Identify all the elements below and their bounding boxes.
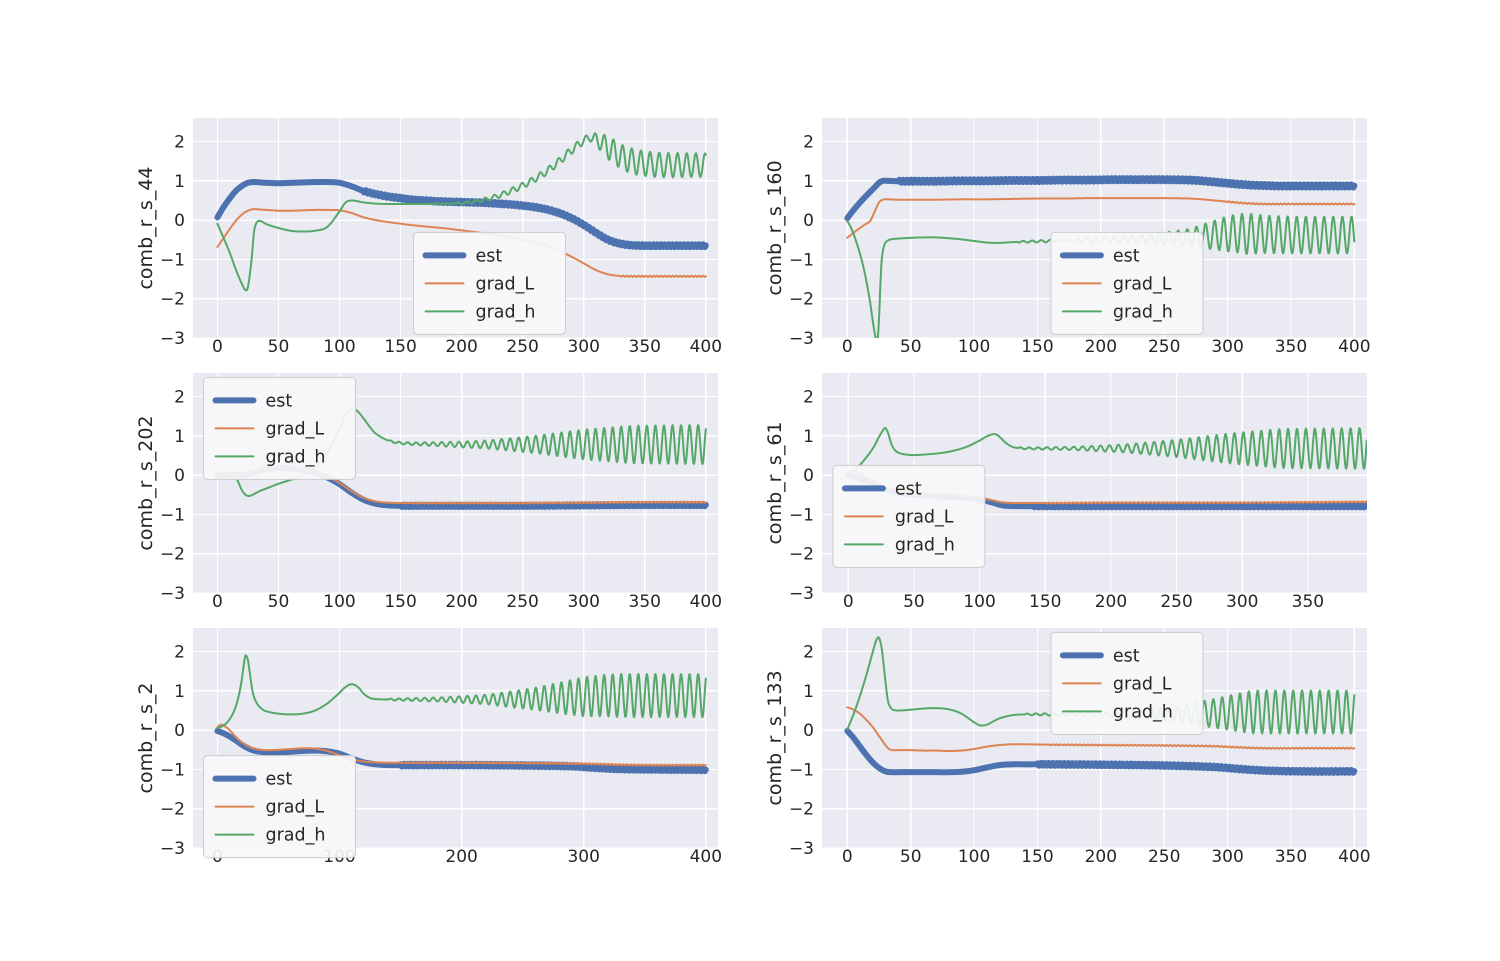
legend-label-grad_L: grad_L xyxy=(1113,674,1172,694)
x-tick-label: 100 xyxy=(958,847,990,867)
x-tick-label: 200 xyxy=(1085,847,1117,867)
legend-label-grad_h: grad_h xyxy=(1113,702,1173,722)
x-tick-label: 0 xyxy=(842,847,853,867)
x-tick-label: 150 xyxy=(1021,847,1053,867)
y-tick-label: 0 xyxy=(803,721,814,741)
x-tick-label: 250 xyxy=(1148,847,1180,867)
x-tick-label: 350 xyxy=(1275,847,1307,867)
x-tick-label: 300 xyxy=(1211,847,1243,867)
x-tick-label: 400 xyxy=(1338,847,1370,867)
y-tick-label: −2 xyxy=(789,800,814,820)
y-tick-label: −3 xyxy=(789,839,814,859)
y-tick-label: 1 xyxy=(803,682,814,702)
figure-canvas: 050100150200250300350400−3−2−1012comb_r_… xyxy=(0,0,1500,961)
y-tick-label: 2 xyxy=(803,643,814,663)
x-tick-label: 50 xyxy=(900,847,922,867)
y-tick-label: −1 xyxy=(789,760,814,780)
legend-label-est: est xyxy=(1113,646,1140,666)
y-axis-label: comb_r_s_133 xyxy=(764,670,786,805)
